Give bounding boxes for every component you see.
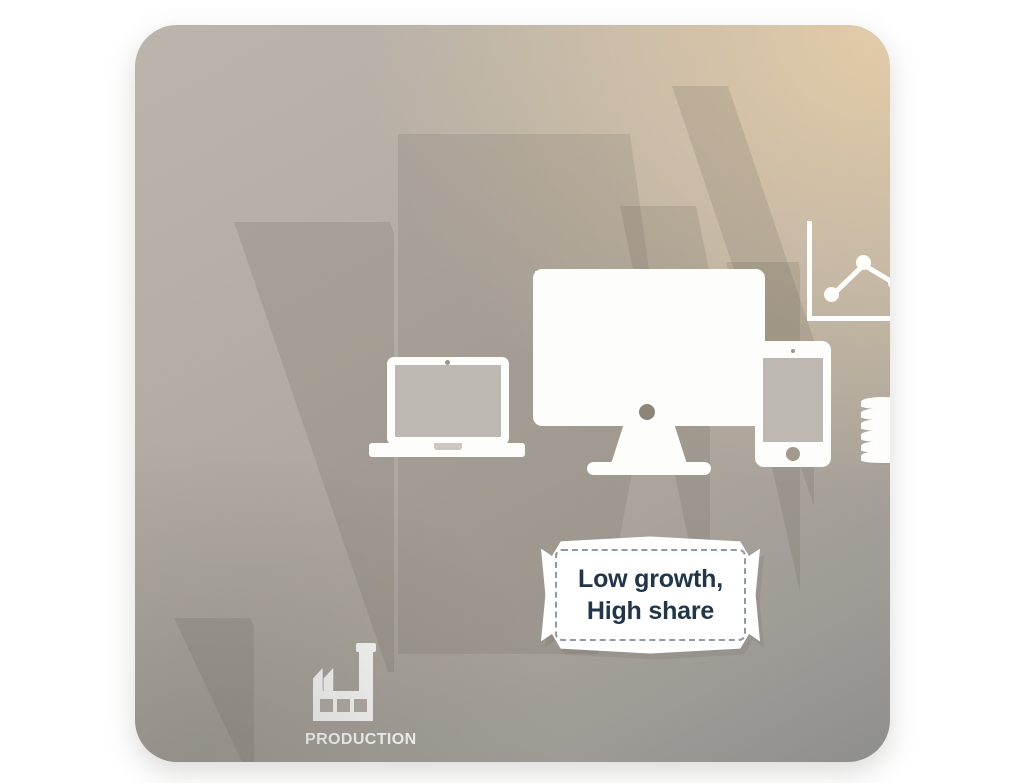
page-root: Low growth, High share PRODUCTION [0,0,1024,783]
factory-long-shadow [174,618,254,762]
laptop-trackpad-notch [434,443,462,450]
factory-chimney [359,645,373,693]
coin-stacks-icon [861,397,890,465]
label-text-block: Low growth, High share [541,534,760,656]
factory-sawtooth-roof [313,668,357,693]
tablet-icon [755,341,831,467]
production-badge: PRODUCTION [305,643,455,755]
monitor-stand-neck [611,426,687,464]
factory-window-1 [320,699,333,712]
tablet-home-button [786,447,800,461]
chart-point-2 [856,255,871,270]
chart-point-1 [824,287,839,302]
monitor-power-dot [639,404,655,420]
desktop-monitor-icon [533,269,765,469]
callout-label: Low growth, High share [541,534,760,656]
laptop-icon [369,357,525,467]
coin-left-1 [861,451,890,465]
monitor-body [533,269,765,426]
label-line-2: High share [587,595,714,627]
label-line-1: Low growth, [578,563,723,595]
monitor-stand-base [587,462,711,475]
production-caption: PRODUCTION [305,731,455,749]
tablet-screen [763,358,823,442]
factory-window-2 [337,699,350,712]
chart-y-axis [807,221,812,321]
chart-x-axis [807,316,890,321]
factory-icon [309,643,385,721]
infographic-card: Low growth, High share PRODUCTION [135,25,890,762]
laptop-screen [395,365,501,437]
laptop-camera-dot [445,360,450,365]
tablet-camera-dot [791,349,795,353]
factory-window-3 [354,699,367,712]
line-chart-icon [807,221,890,321]
